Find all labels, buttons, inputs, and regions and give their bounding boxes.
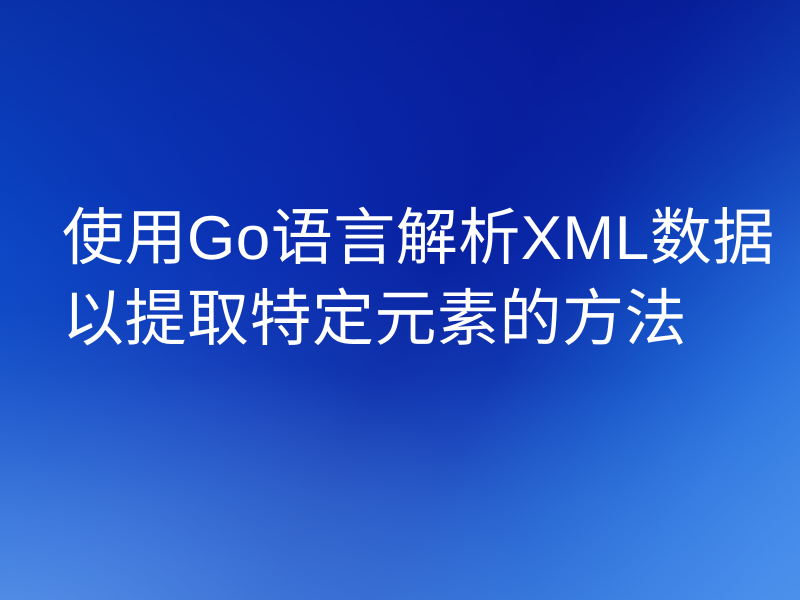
title-card: 使用Go语言解析XML数据 以提取特定元素的方法 (0, 0, 800, 600)
title-line-1: 使用Go语言解析XML数据 (62, 198, 768, 279)
title-line-2: 以提取特定元素的方法 (62, 279, 768, 360)
page-title: 使用Go语言解析XML数据 以提取特定元素的方法 (62, 198, 768, 360)
